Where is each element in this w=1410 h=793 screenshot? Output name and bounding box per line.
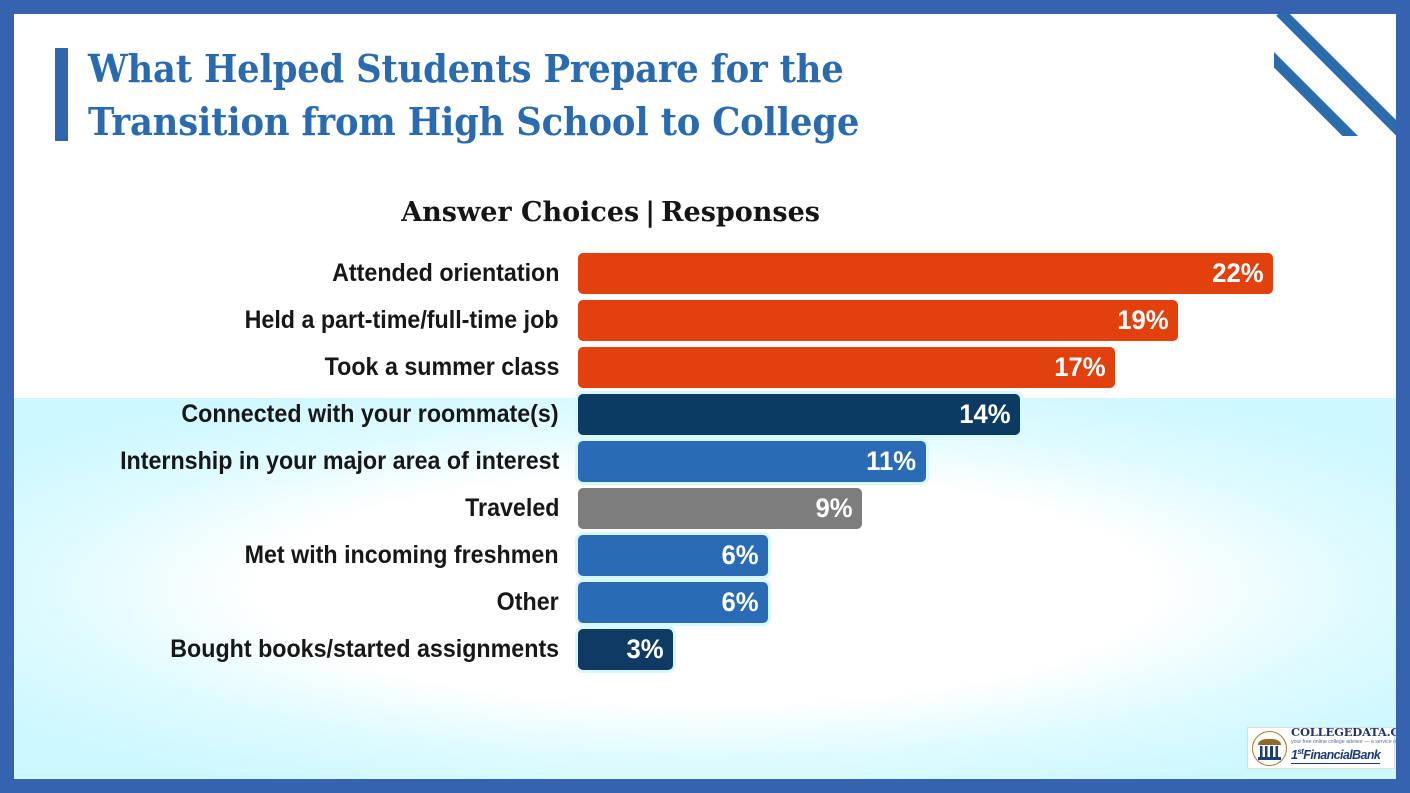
bar-category-label: Attended orientation [332,253,559,294]
bar-value-label: 22% [1212,253,1273,294]
chart-bar: 6% [578,535,768,576]
chart-row: Held a part-time/full-time job19% [0,300,1410,347]
bar-value-label: 3% [626,629,673,670]
frame-border-top [0,0,1410,14]
chart-bar: 6% [578,582,768,623]
chart-row: Internship in your major area of interes… [0,441,1410,488]
logo-tagline: your free online college advisor — a ser… [1291,740,1410,745]
bar-category-label: Traveled [465,488,559,529]
bar-category-label: Other [497,582,559,623]
corner-diagonal-stripes-icon [1274,14,1396,136]
bar-category-label: Connected with your roommate(s) [182,394,559,435]
chart-row: Attended orientation22% [0,253,1410,300]
table-column-header: Answer Choices|Responses [120,197,820,228]
infographic-page: What Helped Students Prepare for the Tra… [0,0,1410,793]
chart-bar: 17% [578,347,1115,388]
chart-row: Connected with your roommate(s)14% [0,394,1410,441]
logo-text-block: COLLEGEDATA.COM your free online college… [1287,727,1410,768]
bar-value-label: 17% [1054,347,1115,388]
bar-value-label: 19% [1118,300,1179,341]
page-title: What Helped Students Prepare for the Tra… [88,42,925,148]
bar-value-label: 6% [721,535,768,576]
chart-row: Bought books/started assignments3% [0,629,1410,676]
logo-bank-name: 1stFinancialBank [1291,748,1380,764]
chart-row: Traveled9% [0,488,1410,535]
frame-border-right [1396,0,1410,793]
chart-bar: 22% [578,253,1273,294]
collegedata-logo: COLLEGEDATA.COM your free online college… [1247,727,1395,769]
bar-category-label: Took a summer class [324,347,559,388]
bar-value-label: 11% [866,441,925,482]
bar-category-label: Held a part-time/full-time job [245,300,559,341]
bar-value-label: 9% [816,488,863,529]
bank-building-icon [1252,731,1287,766]
column-header-responses: Responses [661,197,820,228]
chart-bar: 14% [578,394,1020,435]
frame-border-bottom [0,779,1410,793]
chart-bar: 11% [578,441,926,482]
bar-value-label: 14% [960,394,1021,435]
chart-bar: 9% [578,488,862,529]
logo-site-name: COLLEGEDATA.COM [1291,727,1410,739]
chart-row: Took a summer class17% [0,347,1410,394]
chart-bar: 3% [578,629,673,670]
page-title-line-2: Transition from High School to College [88,95,925,148]
bar-chart: Attended orientation22%Held a part-time/… [0,253,1410,676]
chart-row: Met with incoming freshmen6% [0,535,1410,582]
bar-value-label: 6% [721,582,768,623]
page-title-line-1: What Helped Students Prepare for the [88,42,925,95]
chart-bar: 19% [578,300,1178,341]
logo-bank-suffix: USA [1291,764,1410,769]
column-header-separator: | [639,197,661,228]
bar-category-label: Internship in your major area of interes… [120,441,559,482]
chart-row: Other6% [0,582,1410,629]
logo-bank-word: FinancialBank [1303,748,1380,762]
column-header-answer-choices: Answer Choices [401,197,639,228]
title-accent-bar [55,48,68,141]
frame-border-left [0,0,14,793]
bar-category-label: Met with incoming freshmen [245,535,559,576]
bar-category-label: Bought books/started assignments [170,629,559,670]
